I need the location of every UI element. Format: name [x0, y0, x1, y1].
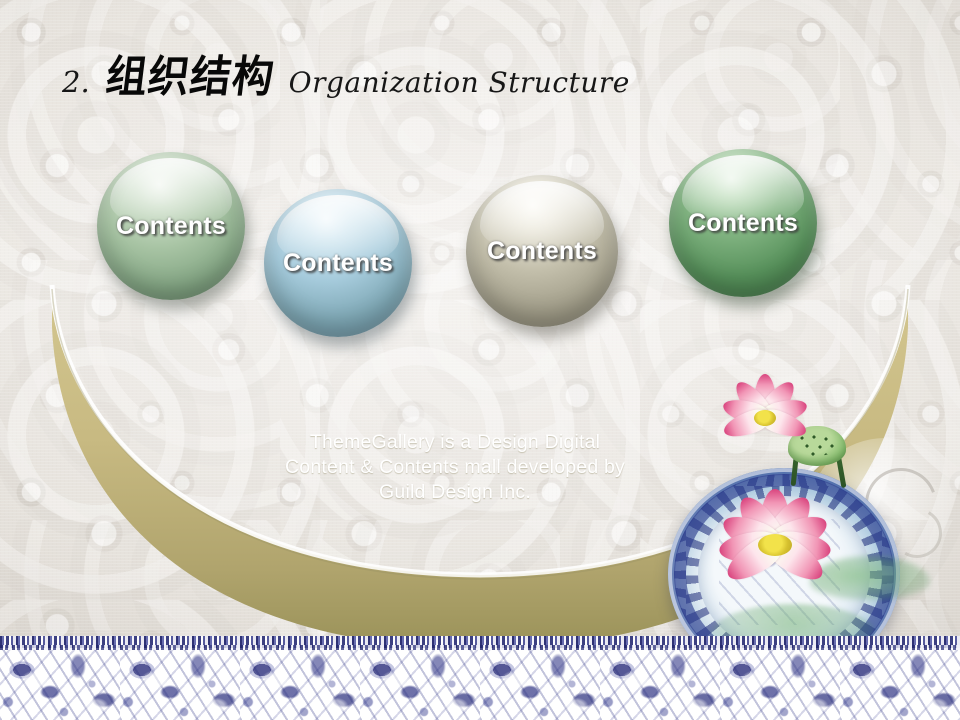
lotus-flower-main [700, 490, 850, 600]
lotus-flower-top [710, 370, 820, 466]
lotus-stamen-core [754, 410, 776, 426]
contents-circle-4-label: Contents [688, 209, 798, 238]
bottom-porcelain-border [0, 636, 960, 720]
contents-circle-3[interactable]: Contents [466, 175, 618, 327]
contents-circle-1-label: Contents [116, 212, 226, 241]
slide-canvas: 2. 组织结构 Organization Structure [0, 0, 960, 720]
body-text-line-3: Guild Design Inc. [205, 480, 705, 505]
border-floral-highlight [0, 650, 960, 720]
porcelain-lotus-artwork [660, 378, 960, 678]
title-chinese: 组织结构 [103, 40, 279, 104]
contents-circle-2[interactable]: Contents [264, 189, 412, 337]
contents-circle-3-label: Contents [487, 237, 597, 266]
body-text-block: ThemeGallery is a Design Digital Content… [205, 430, 705, 505]
slide-title: 2. 组织结构 Organization Structure [62, 44, 630, 104]
contents-circle-4[interactable]: Contents [669, 149, 817, 297]
contents-circle-1[interactable]: Contents [97, 152, 245, 300]
title-english: Organization Structure [289, 66, 630, 99]
body-text-line-2: Content & Contents mall developed by [205, 455, 705, 480]
contents-circle-2-label: Contents [283, 249, 393, 278]
body-text-line-1: ThemeGallery is a Design Digital [205, 430, 705, 455]
title-number: 2. [62, 65, 90, 99]
lotus-stamen-core [758, 534, 792, 556]
